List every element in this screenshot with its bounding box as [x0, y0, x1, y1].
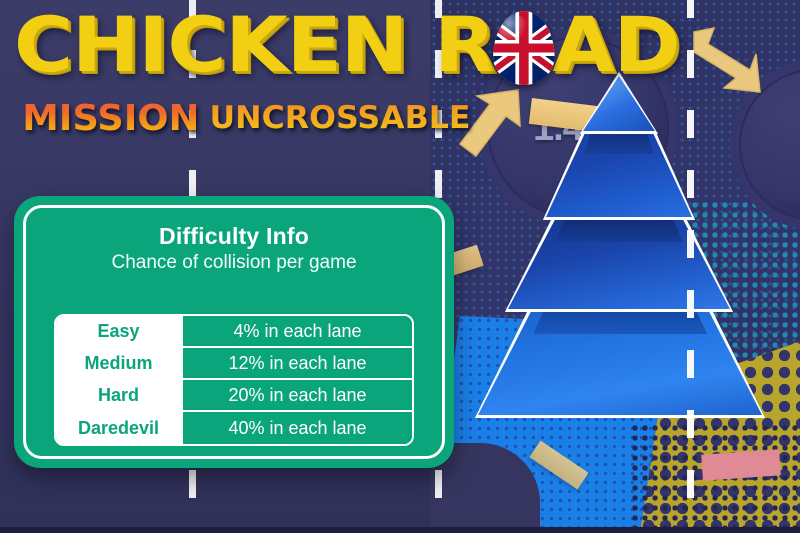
difficulty-card-title: Difficulty Info	[26, 222, 442, 250]
subtitle-word-mission: MISSION	[22, 98, 199, 139]
difficulty-value: 20% in each lane	[181, 380, 412, 410]
bottom-band-decor	[0, 527, 800, 533]
difficulty-value: 12% in each lane	[181, 348, 412, 378]
difficulty-table: Easy4% in each laneMedium12% in each lan…	[54, 314, 414, 446]
subtitle-word-uncrossable: UNCROSSABLE	[209, 100, 470, 136]
title-text-part1: CHICKEN R	[14, 0, 495, 89]
table-row: Daredevil40% in each lane	[56, 412, 412, 444]
difficulty-card-subtitle: Chance of collision per game	[26, 250, 442, 276]
pyramid-tier-4	[475, 300, 765, 418]
difficulty-card-inner: Difficulty Info Chance of collision per …	[23, 205, 445, 459]
difficulty-value: 4% in each lane	[181, 316, 412, 346]
table-row: Medium12% in each lane	[56, 348, 412, 380]
union-jack-egg-icon	[493, 11, 554, 85]
difficulty-label: Daredevil	[56, 412, 181, 444]
poster-header: CHICKEN R AD MISSIONUNCROSSABLE	[0, 0, 800, 150]
poster-canvas: 1.43x 1	[0, 0, 800, 533]
table-row: Easy4% in each lane	[56, 316, 412, 348]
difficulty-label: Hard	[56, 380, 181, 410]
difficulty-info-card: Difficulty Info Chance of collision per …	[14, 196, 454, 468]
poster-subtitle: MISSIONUNCROSSABLE	[24, 98, 468, 139]
difficulty-value: 40% in each lane	[181, 412, 412, 444]
difficulty-label: Medium	[56, 348, 181, 378]
pyramid-tier-3	[505, 212, 733, 312]
page-title: CHICKEN R AD	[14, 6, 800, 85]
table-row: Hard20% in each lane	[56, 380, 412, 412]
difficulty-label: Easy	[56, 316, 181, 346]
title-text-part2: AD	[552, 0, 679, 89]
